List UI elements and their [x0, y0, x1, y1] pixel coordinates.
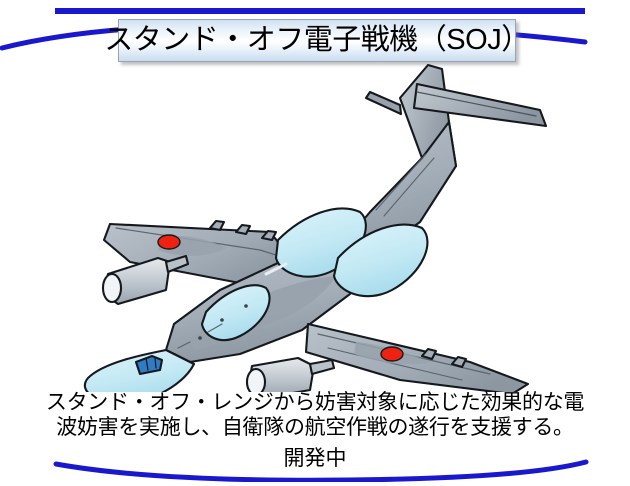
description-block: スタンド・オフ・レンジから妨害対象に応じた効果的な電 波妨害を実施し、自衛隊の航… [30, 390, 600, 440]
description-line-1: スタンド・オフ・レンジから妨害対象に応じた効果的な電 [30, 390, 600, 415]
slide-root: スタンド・オフ電子戦機（SOJ） [0, 0, 630, 486]
page-title: スタンド・オフ電子戦機（SOJ） [104, 26, 529, 55]
status-label: 開発中 [0, 446, 630, 471]
description-line-2: 波妨害を実施し、自衛隊の航空作戦の遂行を支援する。 [30, 415, 600, 440]
stand-off-jammer-aircraft-icon [70, 62, 570, 392]
slide-title-box: スタンド・オフ電子戦機（SOJ） [118, 19, 516, 62]
top-accent-bar [55, 8, 585, 14]
aircraft-illustration [70, 62, 570, 392]
